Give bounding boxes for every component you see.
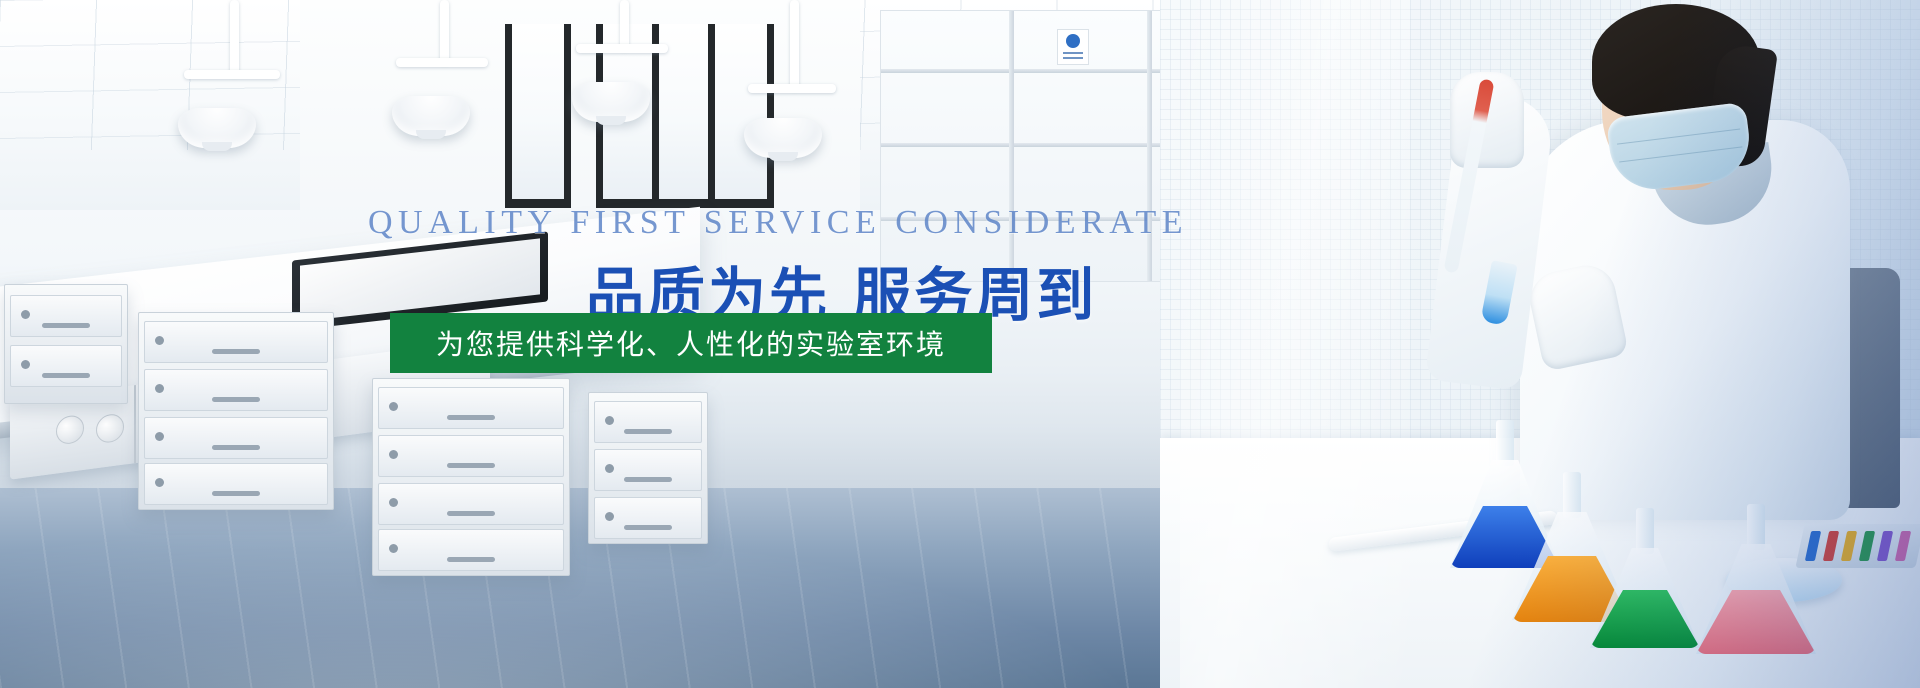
drawer-lock <box>155 336 164 345</box>
dome-lamp <box>392 96 470 136</box>
drawer <box>378 529 564 571</box>
drawer-lock <box>605 416 614 425</box>
socket-knob <box>96 413 124 445</box>
test-tube <box>1859 531 1875 561</box>
drawer <box>378 483 564 525</box>
fume-arm <box>748 84 836 93</box>
window-pane <box>708 24 774 208</box>
fume-arm <box>576 44 668 53</box>
test-tube <box>1823 531 1839 561</box>
safety-label-dot <box>1066 34 1080 48</box>
drawer <box>144 463 328 505</box>
drawer-lock <box>21 360 30 369</box>
drawer-unit <box>4 284 128 404</box>
test-tube <box>1895 531 1911 561</box>
flask-neck <box>1636 508 1654 554</box>
flask-liquid <box>1696 590 1816 654</box>
drawer <box>144 321 328 363</box>
dome-lamp <box>744 118 822 158</box>
drawer-lock <box>155 478 164 487</box>
fume-arm <box>440 0 449 64</box>
test-tube <box>1841 531 1857 561</box>
drawer <box>10 345 122 387</box>
window-pane <box>505 24 571 208</box>
flask-green <box>1590 508 1700 648</box>
drawer <box>378 435 564 477</box>
dome-lamp <box>178 108 256 148</box>
flask-pink <box>1696 504 1816 654</box>
banner-subtitle-bar: 为您提供科学化、人性化的实验室环境 <box>390 313 992 373</box>
banner-subtitle-text: 为您提供科学化、人性化的实验室环境 <box>436 323 946 363</box>
fume-arm <box>184 70 280 79</box>
drawer-lock <box>155 384 164 393</box>
drawer-lock <box>155 432 164 441</box>
drawer <box>144 369 328 411</box>
drawer <box>144 417 328 459</box>
drawer <box>594 449 702 491</box>
drawer-lock <box>605 464 614 473</box>
flask-neck <box>1563 472 1581 518</box>
drawer <box>10 295 122 337</box>
fume-arm <box>396 58 488 67</box>
drawer-unit <box>138 312 334 510</box>
banner-eyebrow-english: QUALITY FIRST SERVICE CONSIDERATE <box>368 204 1188 242</box>
socket-knob <box>56 414 84 446</box>
safety-label-line <box>1063 57 1083 59</box>
drawer <box>378 387 564 429</box>
fume-arm <box>790 0 799 90</box>
test-tube <box>1877 531 1893 561</box>
drawer-lock <box>389 402 398 411</box>
drawer <box>594 497 702 539</box>
fume-arm <box>230 0 239 76</box>
flask-neck <box>1496 420 1514 466</box>
dome-lamp <box>572 82 650 122</box>
drawer-lock <box>21 310 30 319</box>
scientist-photo <box>1160 0 1920 688</box>
drawer-unit <box>588 392 708 544</box>
drawer-lock <box>389 450 398 459</box>
hero-banner: QUALITY FIRST SERVICE CONSIDERATE 品质为先 服… <box>0 0 1920 688</box>
flask-liquid <box>1590 590 1700 648</box>
cabinet-safety-label <box>1057 29 1089 65</box>
fume-arm <box>620 0 629 50</box>
socket-seam <box>134 385 136 463</box>
drawer-lock <box>605 512 614 521</box>
flask-neck <box>1747 504 1765 550</box>
drawer-lock <box>389 498 398 507</box>
drawer-unit <box>372 378 570 576</box>
safety-label-line <box>1063 52 1083 54</box>
drawer-lock <box>389 544 398 553</box>
drawer <box>594 401 702 443</box>
